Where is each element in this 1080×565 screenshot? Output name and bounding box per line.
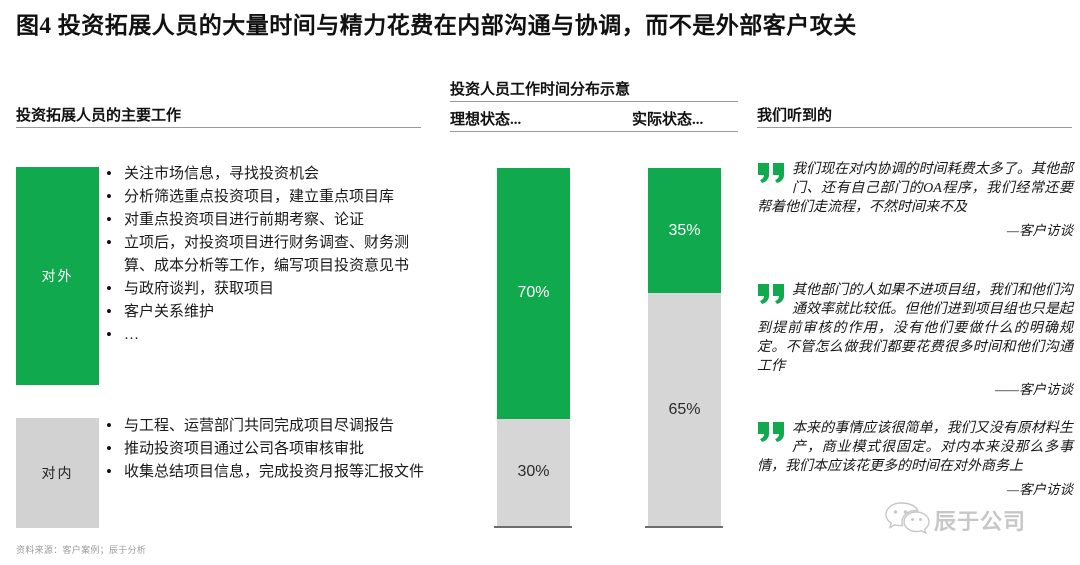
tag-external: 对外 <box>16 167 99 385</box>
column-header-work: 投资拓展人员的主要工作 <box>16 104 181 125</box>
watermark-label: 辰于公司 <box>934 504 1026 536</box>
bar-baseline-ideal <box>494 526 572 528</box>
chart-series-label-ideal: 理想状态... <box>450 108 521 129</box>
list-item: 收集总结项目信息，完成投资月报等汇报文件 <box>104 461 434 484</box>
page-title: 图4 投资拓展人员的大量时间与精力花费在内部沟通与协调，而不是外部客户攻关 <box>16 12 1066 41</box>
quote-text: 我们现在对内协调的时间耗费太多了。其他部门、还有自己部门的OA程序，我们经常还要… <box>757 160 1073 217</box>
bar-segment-actual-internal: 65% <box>648 293 721 526</box>
list-item: 对重点投资项目进行前期考察、论证 <box>104 209 434 232</box>
list-item: 立项后，对投资项目进行财务调查、财务测算、成本分析等工作，编写项目投资意见书 <box>104 232 434 278</box>
bar-segment-ideal-internal: 30% <box>497 419 570 526</box>
quote-attribution: —客户访谈 <box>757 478 1073 498</box>
chart-series-label-actual: 实际状态... <box>632 108 703 129</box>
list-item: 推动投资项目通过公司各项审核审批 <box>104 438 434 461</box>
source-note: 资料来源：客户案例；辰于分析 <box>16 543 146 556</box>
column-rule-chart <box>450 101 738 102</box>
quote-text: 本来的事情应该很简单，我们又没有原材料生产，商业模式很固定。对内本来没那么多事情… <box>757 419 1073 476</box>
list-item: 客户关系维护 <box>104 301 434 324</box>
quote-text: 其他部门的人如果不进项目组，我们和他们沟通效率就比较低。但他们进到项目组也只是起… <box>757 281 1073 376</box>
tag-internal: 对内 <box>16 418 99 528</box>
quote-card: 本来的事情应该很简单，我们又没有原材料生产，商业模式很固定。对内本来没那么多事情… <box>757 419 1073 498</box>
watermark: 辰于公司 <box>884 500 1026 539</box>
bar-baseline-actual <box>645 526 723 528</box>
column-rule-states <box>450 131 738 132</box>
wechat-icon <box>884 500 930 539</box>
quote-attribution: —客户访谈 <box>757 219 1073 239</box>
column-header-heard: 我们听到的 <box>757 104 832 125</box>
column-rule-work <box>16 127 421 128</box>
quote-mark-icon <box>757 283 787 305</box>
list-item: 关注市场信息，寻找投资机会 <box>104 163 434 186</box>
list-item: 分析筛选重点投资项目，建立重点项目库 <box>104 186 434 209</box>
quote-mark-icon <box>757 421 787 443</box>
list-item: … <box>104 324 434 347</box>
list-item: 与政府谈判，获取项目 <box>104 278 434 301</box>
quote-attribution: ——客户访谈 <box>757 378 1073 398</box>
quote-card: 其他部门的人如果不进项目组，我们和他们沟通效率就比较低。但他们进到项目组也只是起… <box>757 281 1073 398</box>
column-header-chart: 投资人员工作时间分布示意 <box>450 78 630 99</box>
bar-segment-ideal-external: 70% <box>497 168 570 419</box>
stacked-bar-ideal: 70% 30% <box>497 168 570 526</box>
quote-card: 我们现在对内协调的时间耗费太多了。其他部门、还有自己部门的OA程序，我们经常还要… <box>757 160 1073 239</box>
work-list-internal: 与工程、运营部门共同完成项目尽调报告 推动投资项目通过公司各项审核审批 收集总结… <box>104 415 434 484</box>
figure-page: 图4 投资拓展人员的大量时间与精力花费在内部沟通与协调，而不是外部客户攻关 投资… <box>0 0 1080 565</box>
bar-segment-actual-external: 35% <box>648 168 721 293</box>
stacked-bar-actual: 35% 65% <box>648 168 721 526</box>
quote-mark-icon <box>757 162 787 184</box>
work-list-external: 关注市场信息，寻找投资机会 分析筛选重点投资项目，建立重点项目库 对重点投资项目… <box>104 163 434 347</box>
column-rule-heard <box>757 127 1072 128</box>
list-item: 与工程、运营部门共同完成项目尽调报告 <box>104 415 434 438</box>
